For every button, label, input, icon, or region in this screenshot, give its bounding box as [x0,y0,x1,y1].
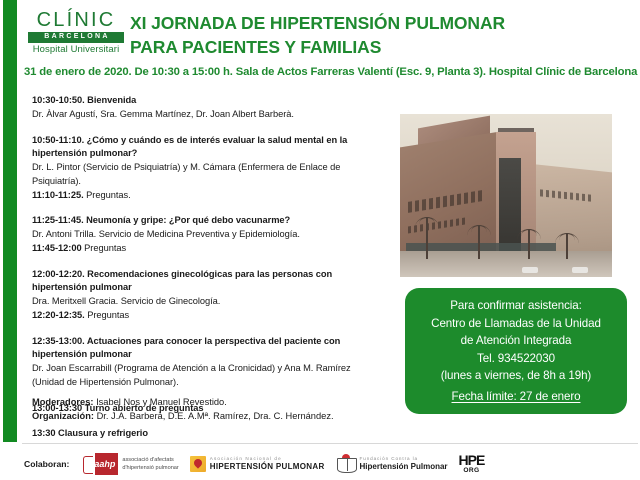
info-line-1: Para confirmar asistencia: [405,297,627,315]
info-phone: Tel. 934522030 [405,350,627,368]
photo-window [457,193,461,205]
poster-canvas: CLÍNIC BARCELONA Hospital Universitari X… [0,0,640,480]
photo-window [450,219,453,226]
book-icon [337,458,357,473]
session-title: 12:35-13:00. Actuaciones para conocer la… [32,335,384,363]
photo-window [462,217,465,224]
collaborators-label: Colaboran: [24,459,69,469]
info-hours: (lunes a viernes, de 8h a 19h) [405,367,627,385]
photo-window [456,218,459,225]
info-deadline: Fecha límite: 27 de enero [405,390,627,403]
footer-divider [22,443,638,444]
photo-window [429,198,433,210]
photo-window [570,192,573,199]
photo-window [564,192,567,199]
program-session: 12:35-13:00. Actuaciones para conocer la… [32,335,384,390]
sponsor-aahp: aahp associació d'afectats d'hipertensió… [80,453,178,475]
photo-tree [528,229,530,259]
photo-car [522,267,538,273]
hpe-logo-text: HPE [459,453,485,467]
questions-time: 12:20-12:35. [32,310,85,320]
moderators-line: Moderadores: Isabel Nos y Manuel Revesti… [32,396,412,410]
event-datetime-venue: 31 de enero de 2020. De 10:30 a 15:00 h.… [24,66,638,78]
credits-block: Moderadores: Isabel Nos y Manuel Revesti… [32,396,412,424]
photo-tree [566,233,568,259]
photo-window [588,194,591,201]
photo-window [552,191,555,198]
page-title: XI JORNADA DE HIPERTENSIÓN PULMONAR PARA… [130,12,630,59]
session-speakers: Dr. Antoni Trilla. Servicio de Medicina … [32,228,384,242]
questions-label: Preguntas [87,310,129,320]
moderators-label: Moderadores: [32,397,93,407]
hpe-logo-icon: HPE ORG [459,453,485,475]
organization-line: Organización: Dr. J.A. Barberà, D.E. A.M… [32,410,412,424]
photo-tree [478,225,480,259]
logo-tagline: Hospital Universitari [28,44,124,55]
photo-window [436,197,440,209]
info-line-2: Centro de Llamadas de la Unidad [405,315,627,333]
photo-window [464,192,468,204]
photo-window [422,199,426,211]
program-list: 10:30-10:50. Bienvenida Dr. Àlvar Agustí… [32,94,384,441]
photo-window [576,193,579,200]
photo-tree [426,217,428,259]
sponsor-hpe: HPE ORG [459,453,485,475]
photo-window [408,226,411,233]
logo-city: BARCELONA [28,32,124,43]
session-questions: 11:45-12:00 Preguntas [32,242,384,256]
photo-window [540,189,543,196]
photo-car [572,267,588,273]
title-line-1: XI JORNADA DE HIPERTENSIÓN PULMONAR [130,12,630,36]
photo-window [558,191,561,198]
session-speakers: Dr. Àlvar Agustí, Sra. Gemma Martínez, D… [32,108,384,122]
logo-name: CLÍNIC [28,10,124,30]
left-green-accent-bar [3,0,17,442]
photo-window [582,194,585,201]
aahp-logo-text: aahp [94,460,118,469]
fchp-logo-icon [336,454,356,474]
title-line-2: PARA PACIENTES Y FAMILIAS [130,36,630,60]
questions-label: Preguntas [84,243,126,253]
info-line-3: de Atención Integrada [405,332,627,350]
sponsor-fchp-text: Fundación Contra la Hipertensión Pulmona… [360,456,448,472]
session-questions: 12:20-12:35. Preguntas [32,309,384,323]
moderators-value: Isabel Nos y Manuel Revestido. [93,397,226,407]
photo-window [444,220,447,227]
photo-street [400,251,612,277]
photo-window [471,191,475,203]
program-session: 10:30-10:50. Bienvenida Dr. Àlvar Agustí… [32,94,384,122]
program-session: 12:00-12:20. Recomendaciones ginecológic… [32,268,384,323]
session-speakers: Dr. Joan Escarrabill (Programa de Atenci… [32,362,384,390]
photo-window [478,190,482,202]
questions-label: Preguntas. [86,190,130,200]
aahp-logo-icon: aahp [80,453,118,475]
photo-window [443,196,447,208]
session-speakers: Dr. L. Pintor (Servicio de Psiquiatría) … [32,161,384,189]
sponsor-anhp-text: Asociación Nacional de HIPERTENSIÓN PULM… [210,456,325,472]
session-questions: 11:10-11:25. Preguntas. [32,189,384,203]
sponsor-line-1: associació d'afectats [122,456,178,464]
program-session: 10:50-11:10. ¿Cómo y cuándo es de interé… [32,134,384,203]
program-session: 11:25-11:45. Neumonía y gripe: ¿Por qué … [32,214,384,255]
session-title: 10:50-11:10. ¿Cómo y cuándo es de interé… [32,134,384,162]
session-title: 10:30-10:50. Bienvenida [32,94,384,108]
session-title: 13:30 Clausura y refrigerio [32,427,384,441]
sponsors-footer: Colaboran: aahp associació d'afectats d'… [24,449,640,479]
program-session: 13:30 Clausura y refrigerio [32,427,384,441]
session-title: 11:25-11:45. Neumonía y gripe: ¿Por qué … [32,214,384,228]
photo-window [408,201,412,213]
photo-window [415,200,419,212]
sponsor-fchp: Fundación Contra la Hipertensión Pulmona… [336,454,448,474]
sponsor-line-2: Hipertensión Pulmonar [360,462,448,472]
photo-window [450,195,454,207]
questions-time: 11:45-12:00 [32,243,82,253]
sponsor-aahp-text: associació d'afectats d'hipertensió pulm… [122,456,178,472]
hospital-clinic-logo: CLÍNIC BARCELONA Hospital Universitari [28,10,124,55]
session-speakers: Dra. Meritxell Gracia. Servicio de Ginec… [32,295,384,309]
sponsor-anhp: Asociación Nacional de HIPERTENSIÓN PULM… [190,456,325,472]
photo-window [546,190,549,197]
session-title: 12:00-12:20. Recomendaciones ginecológic… [32,268,384,296]
sponsor-line-2: d'hipertensió pulmonar [122,464,178,472]
registration-info-box: Para confirmar asistencia: Centro de Lla… [405,288,627,414]
organization-value: Dr. J.A. Barberà, D.E. A.Mª. Ramírez, Dr… [94,411,334,421]
anhp-logo-icon [190,456,206,472]
sponsor-line-2: HIPERTENSIÓN PULMONAR [210,462,325,472]
questions-time: 11:10-11:25. [32,190,84,200]
hospital-building-photo [400,114,612,277]
organization-label: Organización: [32,411,94,421]
hpe-logo-subtext: ORG [459,468,485,475]
